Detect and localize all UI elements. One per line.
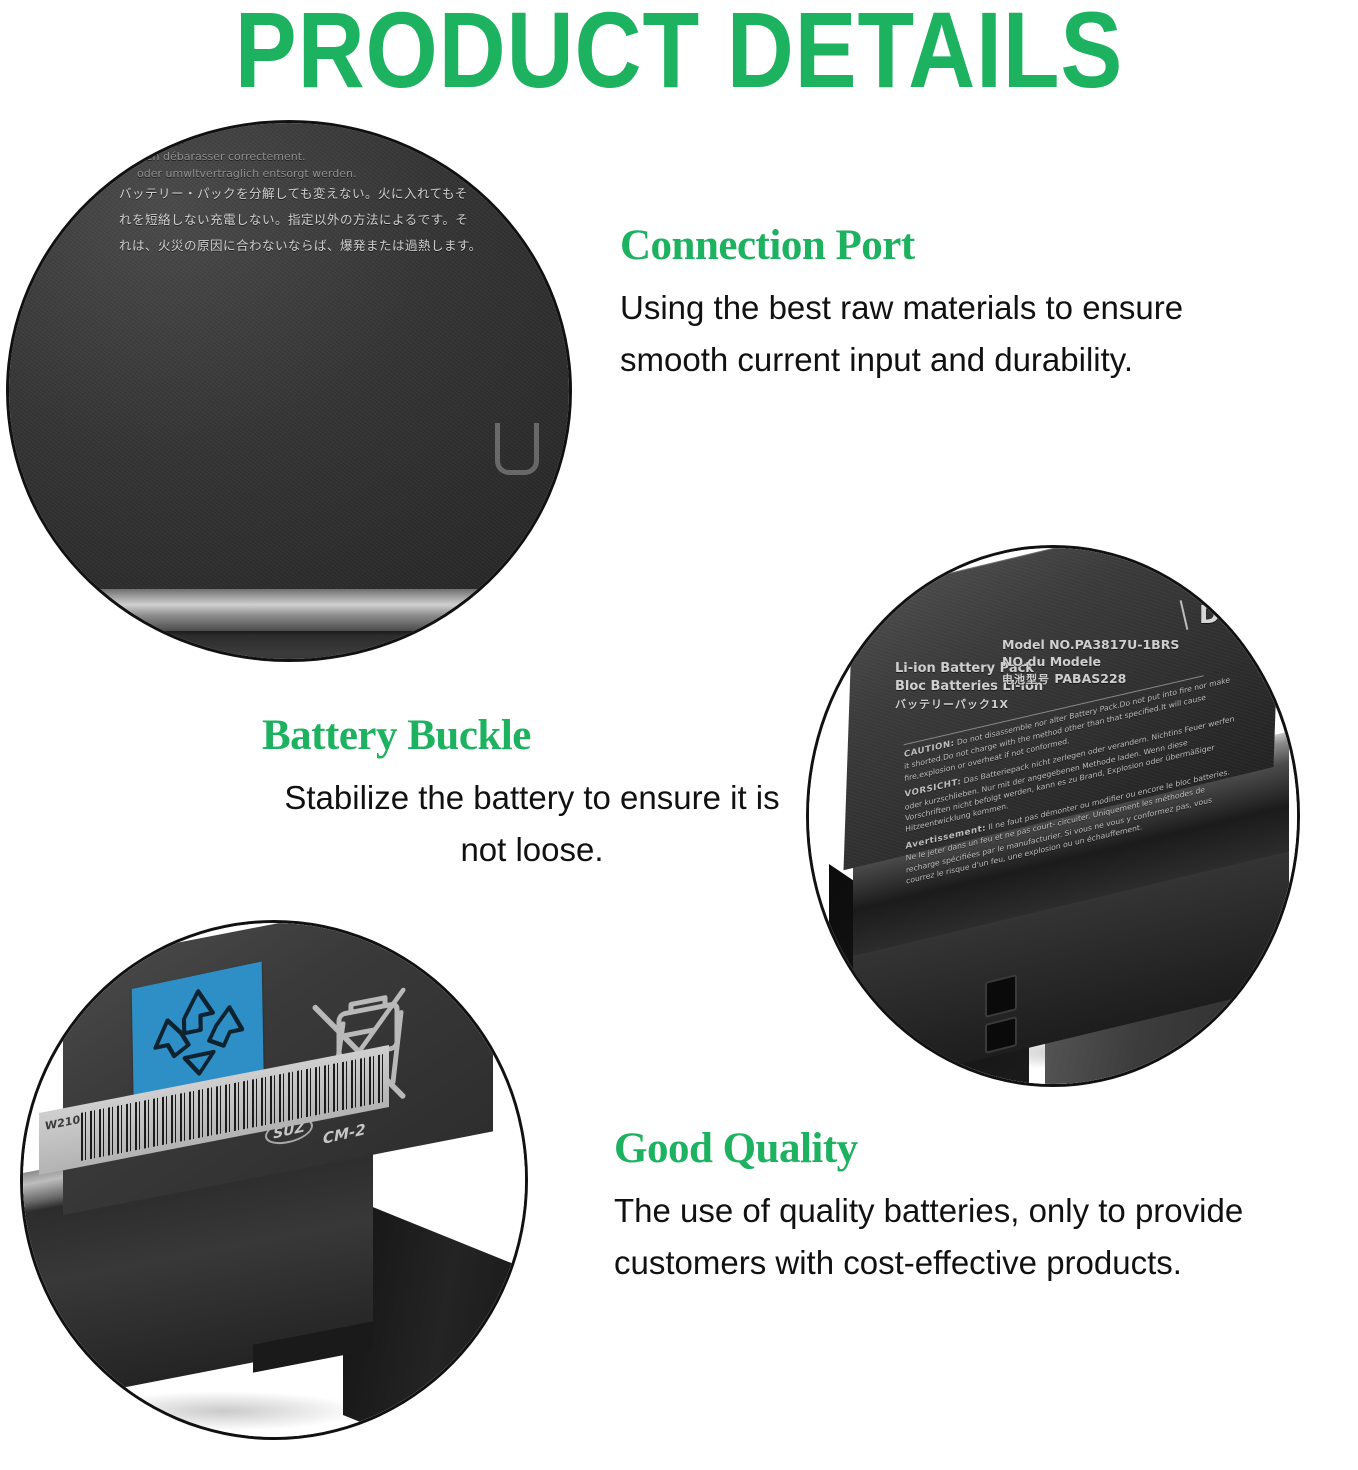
label-model-number: Model NO.PA3817U-1BRS [1002, 636, 1179, 653]
photo-liion-label: Li-ion SUZ CM-2 W210 [20, 920, 528, 1440]
page-title: PRODUCT DETAILS [95, 0, 1263, 106]
section-heading-connection-port: Connection Port [620, 222, 1270, 270]
photo-battery-label: Li-ion Battery Pack Bloc Batteries Li-io… [806, 545, 1300, 1087]
section-heading-good-quality: Good Quality [614, 1125, 1304, 1173]
drop-shadow [83, 1391, 363, 1431]
battery-pack-render: Li-ion Battery Pack Bloc Batteries Li-io… [809, 548, 1297, 1084]
section-body-connection-port: Using the best raw materials to ensure s… [620, 282, 1270, 386]
battery-warning-japanese: バッテリー・パックを分解しても変えない。火に入れてもそ れを短絡しない充電しない… [119, 181, 569, 259]
label-dc-marking: DC 1 [1199, 600, 1268, 629]
battery-chrome-trim [6, 589, 572, 635]
section-body-good-quality: The use of quality batteries, only to pr… [614, 1185, 1304, 1289]
section-heading-battery-buckle: Battery Buckle [262, 712, 802, 760]
warning-line-1: properly. [137, 131, 567, 148]
japanese-line-3: れは、火災の原因に合わないならば、爆発または過熱します。 [119, 233, 569, 259]
photo-connection-port: properly. s'en débarasser correctement. … [6, 120, 572, 662]
section-battery-buckle: Battery Buckle Stabilize the battery to … [262, 712, 802, 876]
battery-lower-body [6, 631, 572, 662]
label-cjk-prefix: 电池型号 [1002, 673, 1050, 686]
section-connection-port: Connection Port Using the best raw mater… [620, 222, 1270, 386]
battery-label-image: Li-ion Battery Pack Bloc Batteries Li-io… [809, 548, 1297, 1084]
brand-glyph-icon [495, 423, 539, 475]
section-good-quality: Good Quality The use of quality batterie… [614, 1125, 1304, 1289]
battery-warning-text: properly. s'en débarasser correctement. … [137, 131, 567, 182]
connection-port-image: properly. s'en débarasser correctement. … [9, 123, 569, 659]
label-pabas-row: 电池型号 PABAS228 [1002, 670, 1179, 688]
japanese-line-1: バッテリー・パックを分解しても変えない。火に入れてもそ [119, 181, 569, 207]
barcode-label: W210 [45, 1113, 80, 1133]
label-pabas-code: PABAS228 [1054, 671, 1126, 686]
label-line-jp: バッテリーパック1X [895, 696, 1043, 714]
section-body-battery-buckle: Stabilize the battery to ensure it is no… [262, 772, 802, 876]
label-model-fr: NO.du Modele [1002, 653, 1179, 670]
liion-label-image: Li-ion SUZ CM-2 W210 [23, 923, 525, 1437]
label-model-info: Model NO.PA3817U-1BRS NO.du Modele 电池型号 … [1002, 636, 1179, 688]
warning-line-3: oder umwltvertraglich entsorgt werden. [137, 165, 567, 182]
japanese-line-2: れを短絡しない充電しない。指定以外の方法によるです。そ [119, 207, 569, 233]
warning-line-2: s'en débarasser correctement. [137, 148, 567, 165]
